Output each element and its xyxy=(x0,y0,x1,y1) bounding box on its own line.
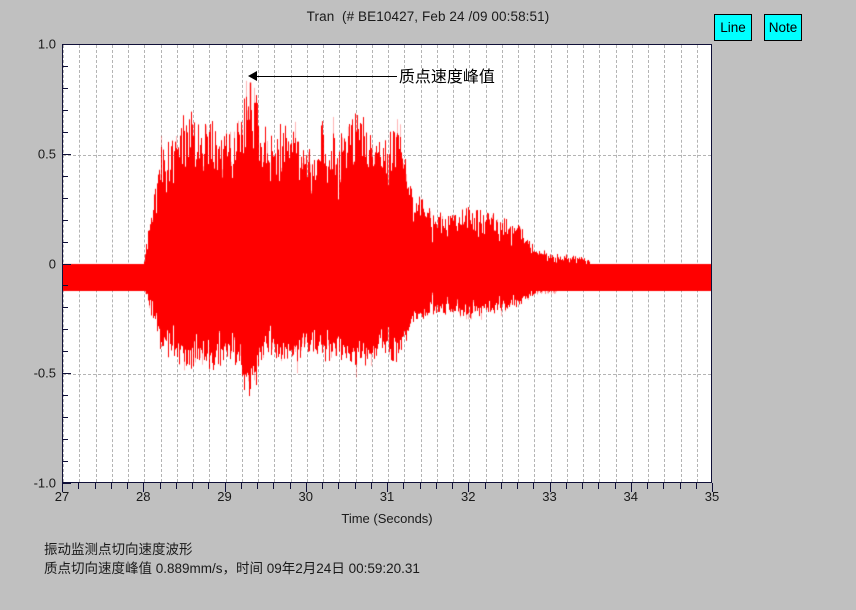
x-tick-mark xyxy=(95,483,96,489)
x-tick-label: 27 xyxy=(42,489,82,504)
x-tick-label: 34 xyxy=(611,489,651,504)
x-tick-label: 33 xyxy=(530,489,570,504)
y-tick-mark xyxy=(62,66,68,67)
x-tick-label: 29 xyxy=(205,489,245,504)
x-tick-label: 31 xyxy=(367,489,407,504)
x-tick-mark xyxy=(338,483,339,489)
line-button[interactable]: Line xyxy=(714,14,752,41)
x-tick-mark xyxy=(420,483,421,489)
x-tick-mark xyxy=(501,483,502,489)
y-tick-mark xyxy=(62,285,68,286)
y-tick-mark xyxy=(62,242,68,243)
y-tick-mark xyxy=(62,329,68,330)
x-tick-mark xyxy=(176,483,177,489)
y-tick-mark xyxy=(62,373,71,374)
y-tick-mark xyxy=(62,307,68,308)
footer-caption: 振动监测点切向速度波形 质点切向速度峰值 0.889mm/s，时间 09年2月2… xyxy=(44,540,420,578)
y-tick-label: 0 xyxy=(14,256,56,271)
y-axis-title: mm/s xyxy=(0,206,1,238)
footer-line-2: 质点切向速度峰值 0.889mm/s，时间 09年2月24日 00:59:20.… xyxy=(44,559,420,578)
x-axis-title: Time (Seconds) xyxy=(62,511,712,526)
x-tick-label: 32 xyxy=(448,489,488,504)
y-tick-mark xyxy=(62,264,71,265)
y-tick-mark xyxy=(62,154,71,155)
y-tick-label: 1.0 xyxy=(14,37,56,52)
y-axis-labels: -1.0-0.500.51.0 xyxy=(8,44,56,483)
x-tick-mark xyxy=(663,483,664,489)
waveform-trace xyxy=(63,45,711,482)
y-tick-mark xyxy=(62,351,68,352)
x-tick-mark xyxy=(192,483,193,489)
x-tick-mark xyxy=(273,483,274,489)
x-tick-mark xyxy=(680,483,681,489)
x-tick-mark xyxy=(355,483,356,489)
x-tick-label: 28 xyxy=(123,489,163,504)
y-tick-mark xyxy=(62,395,68,396)
y-tick-mark xyxy=(62,44,71,45)
y-tick-label: 0.5 xyxy=(14,146,56,161)
x-tick-mark xyxy=(517,483,518,489)
y-tick-mark xyxy=(62,88,68,89)
y-tick-mark xyxy=(62,483,71,484)
x-tick-label: 35 xyxy=(692,489,732,504)
y-tick-label: -0.5 xyxy=(14,366,56,381)
x-tick-mark xyxy=(436,483,437,489)
y-tick-mark xyxy=(62,439,68,440)
x-tick-label: 30 xyxy=(286,489,326,504)
waveform-plot-area[interactable] xyxy=(62,44,712,483)
x-tick-mark xyxy=(582,483,583,489)
note-button[interactable]: Note xyxy=(764,14,802,41)
x-tick-mark xyxy=(598,483,599,489)
x-tick-mark xyxy=(111,483,112,489)
y-tick-mark xyxy=(62,461,68,462)
footer-line-1: 振动监测点切向速度波形 xyxy=(44,540,420,559)
y-tick-mark xyxy=(62,110,68,111)
y-tick-mark xyxy=(62,220,68,221)
y-tick-mark xyxy=(62,176,68,177)
x-tick-mark xyxy=(257,483,258,489)
y-tick-mark xyxy=(62,132,68,133)
y-tick-mark xyxy=(62,198,68,199)
plot-inner xyxy=(63,45,711,482)
y-tick-mark xyxy=(62,417,68,418)
